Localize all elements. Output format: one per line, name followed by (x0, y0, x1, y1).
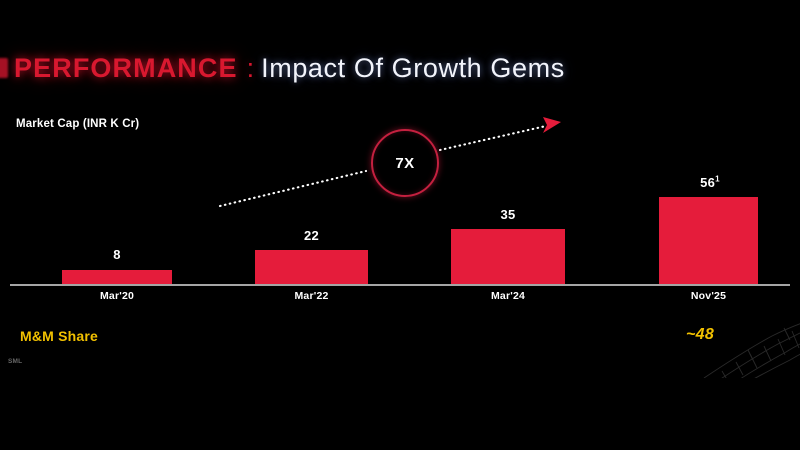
bar-nov25 (659, 197, 758, 284)
category-label-nov25: Nov'25 (659, 290, 758, 302)
title-primary-text: PERFORMANCE (14, 53, 238, 84)
bar-value-nov25-number: 56 (700, 175, 715, 190)
bar-value-mar22: 22 (255, 228, 368, 243)
slide-title: PERFORMANCE : Impact Of Growth Gems (0, 48, 800, 88)
bar-value-mar22-number: 22 (304, 228, 319, 243)
bar-mar20 (62, 270, 172, 284)
mm-share-label: M&M Share (20, 328, 98, 344)
bar-value-mar24-number: 35 (500, 207, 515, 222)
category-label-mar24: Mar'24 (451, 290, 565, 302)
bar-mar22 (255, 250, 368, 284)
growth-multiple-badge-label: 7X (395, 155, 414, 172)
letterbox-top (0, 0, 800, 38)
bar-value-nov25-footnote: 1 (715, 175, 720, 184)
title-accent-chip-icon (0, 58, 8, 78)
growth-multiple-badge: 7X (371, 129, 439, 197)
bar-value-mar20-number: 8 (113, 247, 121, 262)
category-label-mar20: Mar'20 (62, 290, 172, 302)
y-axis-caption: Market Cap (INR K Cr) (16, 118, 139, 130)
bar-value-nov25: 561 (655, 175, 765, 190)
presentation-slide: PERFORMANCE : Impact Of Growth Gems Mark… (0, 0, 800, 450)
title-separator: : (247, 53, 255, 84)
source-footnote: SML (8, 358, 22, 365)
category-label-mar22: Mar'22 (255, 290, 368, 302)
bar-value-mar20: 8 (62, 247, 172, 262)
bar-mar24 (451, 229, 565, 284)
letterbox-bottom (0, 378, 800, 450)
chart-baseline-axis (10, 284, 790, 286)
title-secondary-text: Impact Of Growth Gems (261, 53, 565, 84)
bar-value-mar24: 35 (451, 207, 565, 222)
